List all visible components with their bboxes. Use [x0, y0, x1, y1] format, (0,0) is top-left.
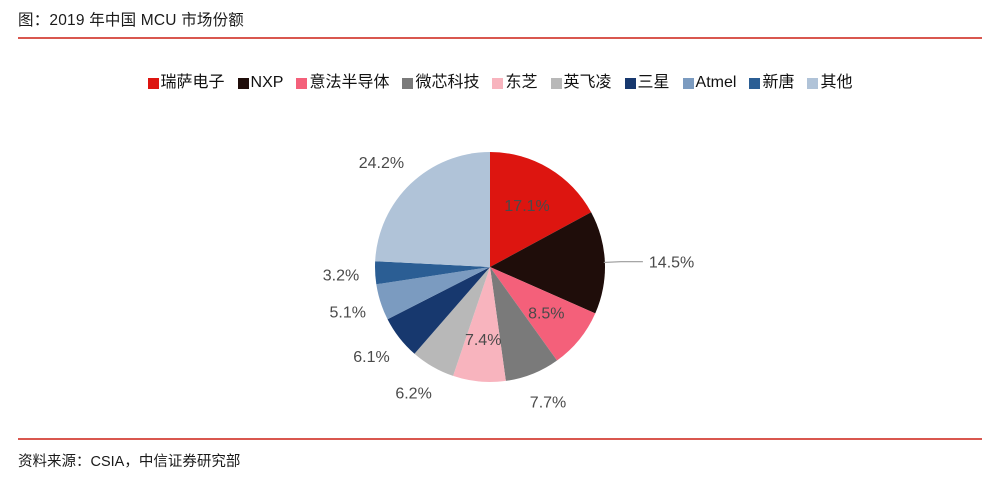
- slice-value-label: 24.2%: [359, 155, 404, 172]
- legend-item-label: 其他: [820, 74, 852, 92]
- pie-chart: 17.1%14.5%8.5%7.7%7.4%6.2%6.1%5.1%3.2%24…: [0, 108, 1000, 426]
- legend-swatch-icon: [148, 78, 159, 89]
- legend-swatch-icon: [683, 78, 694, 89]
- title-block: 图：2019 年中国 MCU 市场份额: [18, 10, 982, 39]
- legend-swatch-icon: [238, 78, 249, 89]
- source-note: 资料来源：CSIA，中信证券研究部: [18, 452, 982, 472]
- page-title: 图：2019 年中国 MCU 市场份额: [18, 10, 982, 32]
- slice-value-label: 14.5%: [649, 255, 694, 272]
- legend-item[interactable]: 三星: [625, 74, 670, 92]
- legend-item[interactable]: 微芯科技: [402, 74, 479, 92]
- slice-value-label: 3.2%: [323, 267, 359, 284]
- legend-item-label: 新唐: [762, 74, 794, 92]
- legend-swatch-icon: [492, 78, 503, 89]
- legend-item-label: 微芯科技: [415, 74, 479, 92]
- legend-item-label: 三星: [638, 74, 670, 92]
- legend-item[interactable]: 其他: [807, 74, 852, 92]
- chart-area: 17.1%14.5%8.5%7.7%7.4%6.2%6.1%5.1%3.2%24…: [0, 108, 1000, 426]
- legend-swatch-icon: [807, 78, 818, 89]
- legend-item-label: 瑞萨电子: [161, 74, 225, 92]
- legend-item[interactable]: Atmel: [683, 74, 737, 92]
- footer-divider: [18, 438, 982, 440]
- legend-swatch-icon: [625, 78, 636, 89]
- legend-item[interactable]: 瑞萨电子: [148, 74, 225, 92]
- legend-item[interactable]: 东芝: [492, 74, 537, 92]
- legend-item-label: 意法半导体: [309, 74, 389, 92]
- legend-swatch-icon: [551, 78, 562, 89]
- slice-value-label: 7.7%: [530, 395, 566, 412]
- chart-page: 图：2019 年中国 MCU 市场份额 瑞萨电子NXP意法半导体微芯科技东芝英飞…: [0, 0, 1000, 490]
- legend-swatch-icon: [402, 78, 413, 89]
- legend-item[interactable]: 新唐: [749, 74, 794, 92]
- chart-legend: 瑞萨电子NXP意法半导体微芯科技东芝英飞凌三星Atmel新唐其他: [0, 74, 1000, 92]
- legend-item[interactable]: NXP: [238, 74, 284, 92]
- legend-item[interactable]: 意法半导体: [296, 74, 389, 92]
- slice-value-label: 7.4%: [465, 332, 501, 349]
- slice-value-label: 17.1%: [504, 198, 549, 215]
- title-divider: [18, 37, 982, 39]
- legend-swatch-icon: [749, 78, 760, 89]
- legend-item-label: Atmel: [696, 74, 737, 92]
- legend-swatch-icon: [296, 78, 307, 89]
- footer-block: 资料来源：CSIA，中信证券研究部: [18, 438, 982, 472]
- leader-line: [604, 262, 643, 263]
- legend-item-label: 英飞凌: [564, 74, 612, 92]
- slice-value-label: 6.2%: [395, 386, 431, 403]
- slice-value-label: 5.1%: [330, 304, 366, 321]
- legend-item-label: 东芝: [505, 74, 537, 92]
- slice-value-label: 8.5%: [528, 306, 564, 323]
- slice-value-label: 6.1%: [353, 349, 389, 366]
- legend-item-label: NXP: [251, 74, 284, 92]
- legend-item[interactable]: 英飞凌: [551, 74, 612, 92]
